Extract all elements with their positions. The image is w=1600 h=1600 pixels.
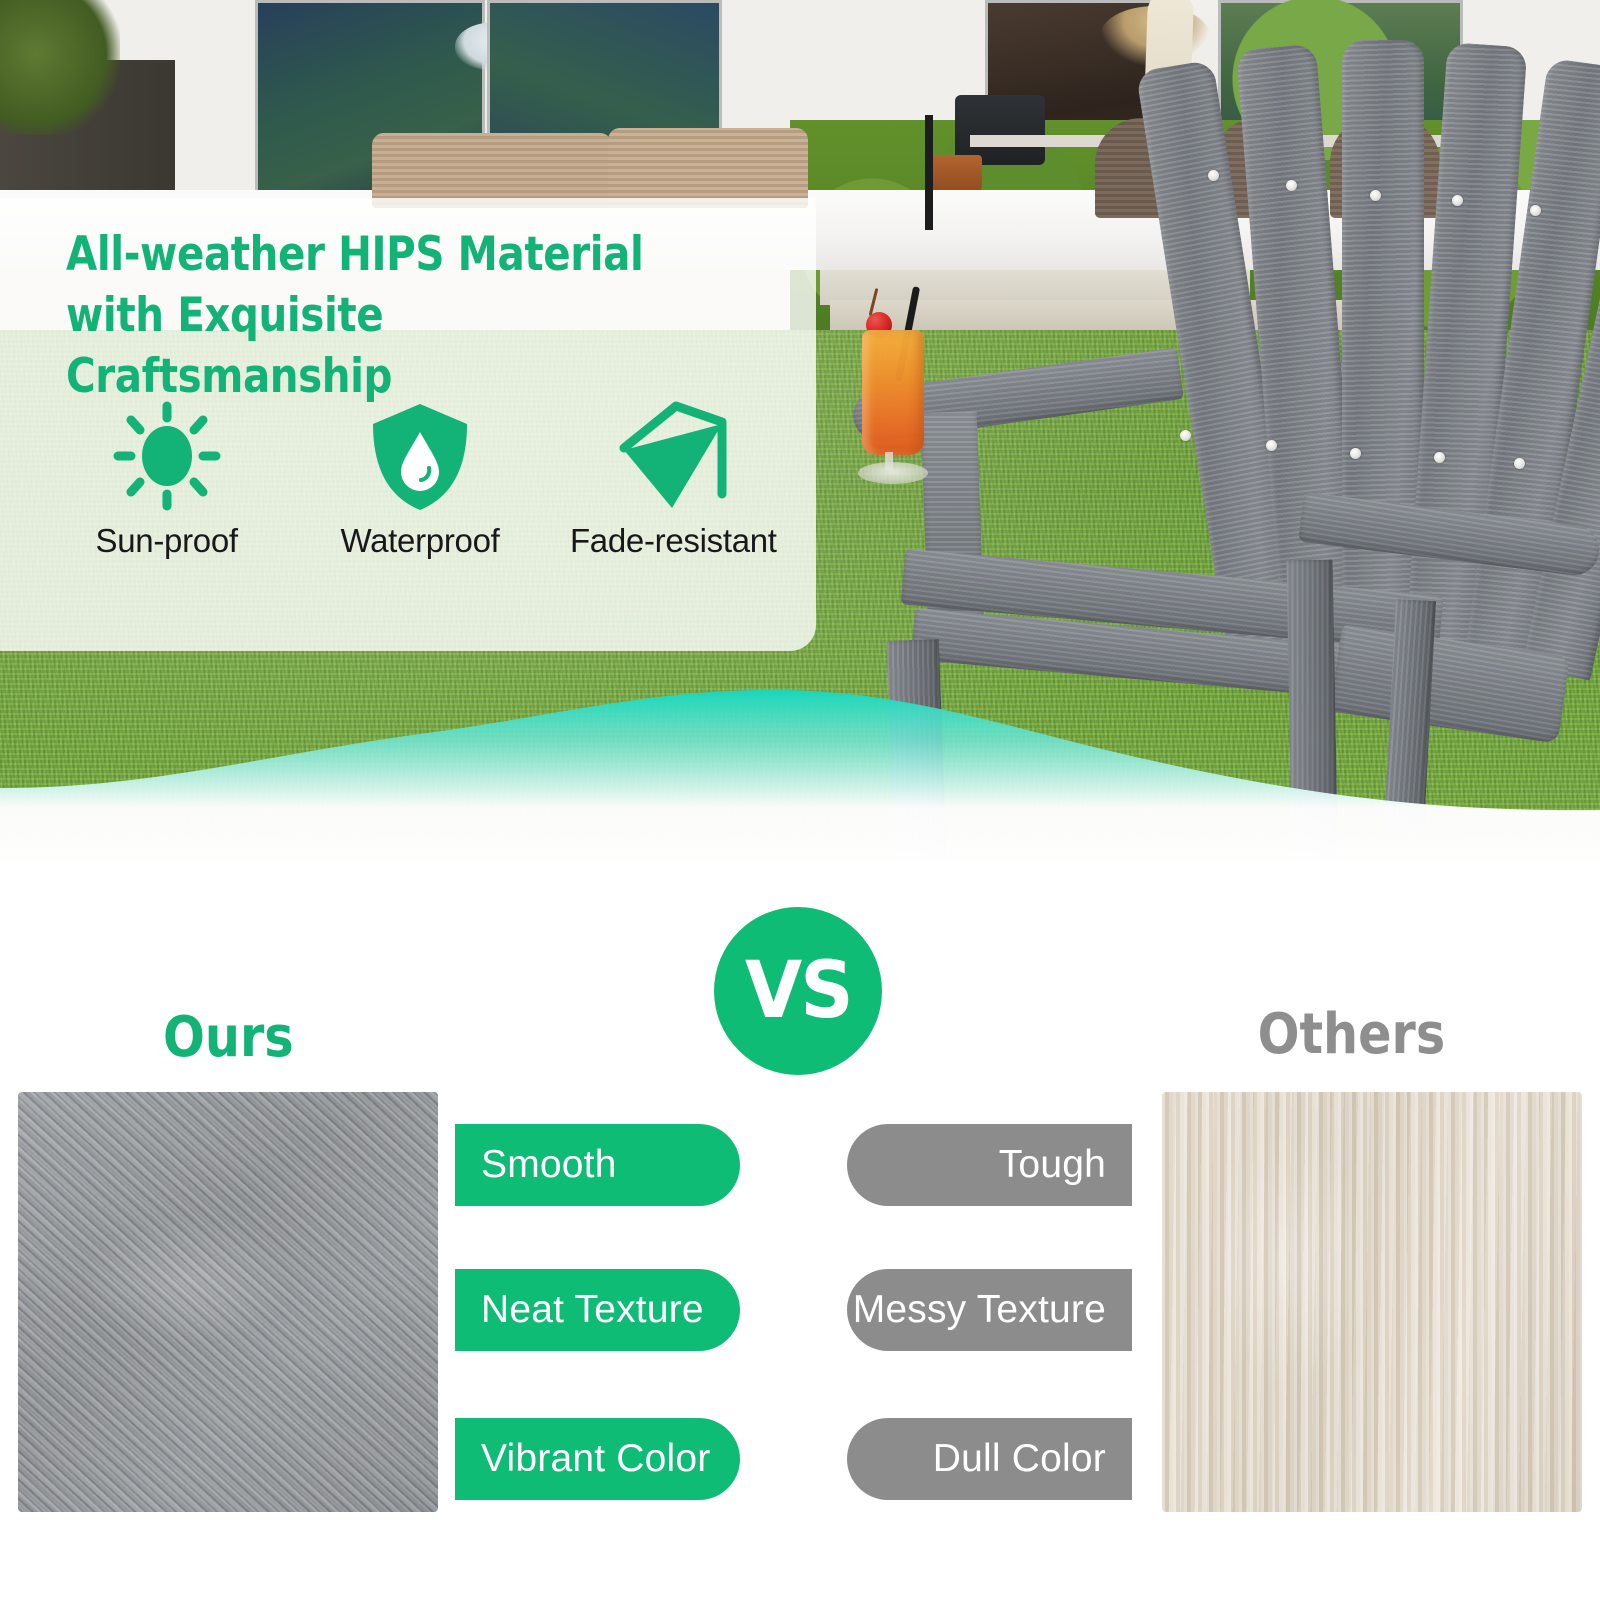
shield-water-drop-icon bbox=[361, 398, 479, 516]
wicker-sofa bbox=[372, 133, 612, 208]
vs-badge: VS bbox=[714, 907, 882, 1075]
pill-label: Neat Texture bbox=[481, 1288, 704, 1332]
others-attribute-pill: Dull Color bbox=[847, 1418, 1132, 1500]
feature-list: Sun-proof Waterproof Fade-resistant bbox=[40, 398, 800, 560]
ours-attribute-pill: Smooth bbox=[455, 1124, 740, 1206]
others-heading: Others bbox=[1257, 1002, 1445, 1067]
vs-label: VS bbox=[745, 946, 852, 1036]
feature-label: Waterproof bbox=[340, 522, 499, 560]
others-attribute-pill: Messy Texture bbox=[847, 1269, 1132, 1351]
glass-foot bbox=[858, 462, 928, 484]
others-texture-swatch bbox=[1162, 1092, 1582, 1512]
ours-attribute-pill: Vibrant Color bbox=[455, 1418, 740, 1500]
ours-texture-swatch bbox=[18, 1092, 438, 1512]
fade-resistant-icon bbox=[610, 398, 736, 516]
feature-waterproof: Waterproof bbox=[293, 398, 546, 560]
pill-label: Vibrant Color bbox=[481, 1437, 711, 1481]
pill-label: Tough bbox=[999, 1143, 1106, 1187]
sun-icon bbox=[103, 398, 231, 516]
product-infographic: All-weather HIPS Material with Exquisite… bbox=[0, 0, 1600, 1600]
wave-divider bbox=[0, 660, 1600, 860]
wicker-chair bbox=[608, 128, 808, 208]
shrub bbox=[0, 0, 120, 135]
ours-heading: Ours bbox=[163, 1005, 294, 1070]
feature-sun-proof: Sun-proof bbox=[40, 398, 293, 560]
pill-label: Dull Color bbox=[933, 1437, 1106, 1481]
feature-label: Sun-proof bbox=[96, 522, 238, 560]
drink-glass bbox=[862, 330, 924, 455]
pill-label: Messy Texture bbox=[853, 1288, 1106, 1332]
pill-label: Smooth bbox=[481, 1143, 617, 1187]
headline-line-2: with Exquisite Craftsmanship bbox=[66, 285, 720, 407]
feature-fade-resistant: Fade-resistant bbox=[547, 398, 800, 560]
headline-line-1: All-weather HIPS Material bbox=[66, 224, 720, 285]
feature-label: Fade-resistant bbox=[570, 522, 777, 560]
others-attribute-pill: Tough bbox=[847, 1124, 1132, 1206]
page-title: All-weather HIPS Material with Exquisite… bbox=[66, 224, 720, 407]
wicker-chair bbox=[95, 130, 275, 208]
ours-attribute-pill: Neat Texture bbox=[455, 1269, 740, 1351]
